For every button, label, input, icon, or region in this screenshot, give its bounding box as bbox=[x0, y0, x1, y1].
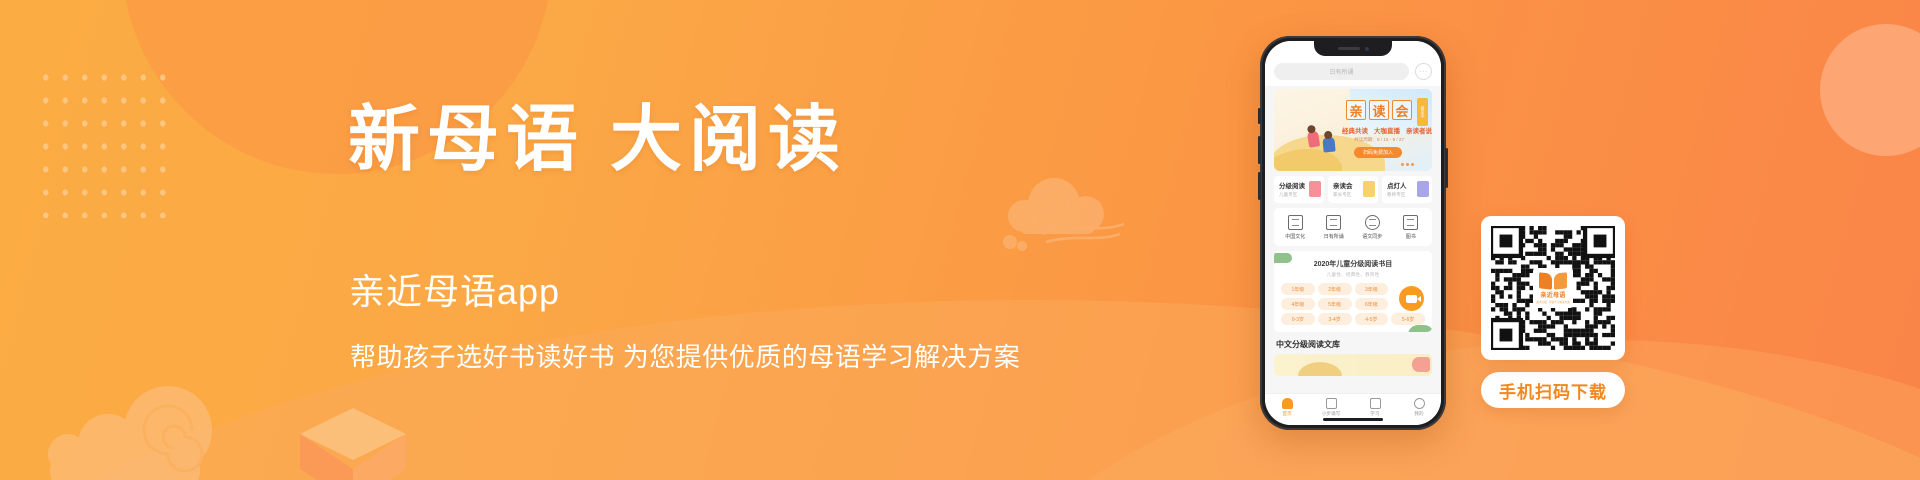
quick-icon-textbook-sync[interactable]: 语文同步 bbox=[1353, 215, 1392, 240]
tab-label: 小步诵写 bbox=[1309, 411, 1353, 417]
book-logo-icon bbox=[1539, 273, 1567, 289]
qr-logo-name: 亲近母语 bbox=[1540, 290, 1565, 299]
decor-cloud-bottom-left bbox=[0, 378, 220, 480]
grade-chip[interactable]: 6年级 bbox=[1355, 298, 1389, 310]
hero-title-char-2: 读 bbox=[1369, 100, 1389, 120]
note-icon bbox=[1363, 181, 1375, 197]
front-camera-icon bbox=[1365, 47, 1369, 51]
book-page-right bbox=[1554, 272, 1567, 290]
quick-icon-label: 语文同步 bbox=[1353, 233, 1392, 240]
entry-card-lamplighter[interactable]: 点灯人 教师专区 bbox=[1382, 176, 1432, 203]
phone-silent-button bbox=[1258, 108, 1261, 124]
book-icon bbox=[1326, 215, 1341, 230]
grade-chip[interactable]: 4-5岁 bbox=[1355, 313, 1389, 325]
home-icon bbox=[1282, 398, 1293, 409]
phone-power-button bbox=[1445, 148, 1448, 188]
carousel-dot[interactable] bbox=[1411, 163, 1414, 166]
qr-logo-slogan: 童书分级 · 母语学习解决方案 bbox=[1536, 300, 1569, 304]
hero-child-illustration-a bbox=[1307, 130, 1320, 148]
earpiece-speaker bbox=[1338, 47, 1360, 50]
grade-chip[interactable]: 2年级 bbox=[1318, 283, 1352, 295]
carousel-dot[interactable] bbox=[1401, 163, 1404, 166]
video-camera-icon bbox=[1406, 295, 1417, 303]
tab-profile[interactable]: 我的 bbox=[1397, 398, 1441, 417]
carousel-dot[interactable] bbox=[1406, 163, 1409, 166]
decor-cloud-right bbox=[1002, 172, 1120, 252]
hero-subtitle-item-2: 大咖直播 bbox=[1374, 125, 1400, 135]
hero-carousel-dots[interactable] bbox=[1401, 163, 1414, 166]
app-search-input[interactable]: 日有所诵 bbox=[1274, 63, 1409, 80]
quick-icon-daily-recitation[interactable]: 日有所诵 bbox=[1315, 215, 1354, 240]
promo-banner: 新母语 大阅读 亲近母语app 帮助孩子选好书读好书 为您提供优质的母语学习解决… bbox=[0, 0, 1920, 480]
hero-date-text: 共读周期：9 / 16 - 9 / 27 bbox=[1354, 137, 1404, 143]
banner-headline: 新母语 大阅读 bbox=[348, 104, 847, 176]
person-icon bbox=[1417, 181, 1429, 197]
hero-title: 亲 读 会 bbox=[1346, 100, 1412, 120]
grade-chip[interactable]: 3-4岁 bbox=[1318, 313, 1352, 325]
sync-icon bbox=[1365, 215, 1380, 230]
more-options-icon[interactable]: ··· bbox=[1415, 63, 1432, 80]
tab-home[interactable]: 首页 bbox=[1265, 398, 1309, 417]
leaf-decor-bottom-right bbox=[1408, 325, 1432, 332]
phone-screen: 日有所诵 ··· 亲 读 会 报名中 经典共读 大咖直播 亲读者说 bbox=[1265, 41, 1441, 425]
banner-subhead: 亲近母语app bbox=[349, 274, 560, 310]
hero-subtitle-item-1: 经典共读 bbox=[1342, 125, 1368, 135]
grade-chip[interactable]: 0-3岁 bbox=[1281, 313, 1315, 325]
grade-chip[interactable]: 5年级 bbox=[1318, 298, 1352, 310]
qr-card[interactable]: 亲近母语 童书分级 · 母语学习解决方案 bbox=[1481, 216, 1625, 360]
book-page-left bbox=[1539, 272, 1552, 290]
hero-subtitle-item-3: 亲读者说 bbox=[1406, 125, 1432, 135]
phone-mockup: 日有所诵 ··· 亲 读 会 报名中 经典共读 大咖直播 亲读者说 bbox=[1260, 36, 1446, 430]
hero-flag-badge: 报名中 bbox=[1417, 98, 1428, 126]
library-icon bbox=[1403, 215, 1418, 230]
decor-dot-grid bbox=[36, 66, 174, 218]
hero-child-illustration-b bbox=[1322, 137, 1335, 153]
library-section-title: 中文分级阅读文库 bbox=[1276, 339, 1441, 350]
tab-recite-write[interactable]: 小步诵写 bbox=[1309, 398, 1353, 417]
clipboard-icon bbox=[1370, 398, 1381, 409]
quick-icon-label: 中国文化 bbox=[1276, 233, 1315, 240]
scan-download-button[interactable]: 手机扫码下载 bbox=[1481, 372, 1625, 408]
hero-cta-button[interactable]: 扫码免费加入 bbox=[1354, 147, 1402, 158]
quick-icon-chinese-culture[interactable]: 中国文化 bbox=[1276, 215, 1315, 240]
app-entry-row: 分级阅读 儿童专区 亲读会 家长专区 点灯人 教师专区 bbox=[1274, 176, 1432, 203]
grade-chip[interactable]: 3年级 bbox=[1355, 283, 1389, 295]
qr-download-block: 亲近母语 童书分级 · 母语学习解决方案 手机扫码下载 bbox=[1481, 216, 1625, 408]
notebook-icon bbox=[1326, 398, 1337, 409]
culture-icon bbox=[1288, 215, 1303, 230]
video-play-button[interactable] bbox=[1399, 286, 1424, 311]
entry-card-graded-reading[interactable]: 分级阅读 儿童专区 bbox=[1274, 176, 1324, 203]
library-card[interactable] bbox=[1274, 354, 1432, 376]
banner-tagline: 帮助孩子选好书读好书 为您提供优质的母语学习解决方案 bbox=[350, 344, 1020, 370]
grade-card-subtitle: 儿童性、经典性、教育性 bbox=[1281, 271, 1425, 278]
grade-chip[interactable]: 5-6岁 bbox=[1391, 313, 1425, 325]
tab-label: 学习 bbox=[1353, 411, 1397, 417]
phone-volume-up-button bbox=[1258, 136, 1261, 164]
banner-copy: 新母语 大阅读 亲近母语app 帮助孩子选好书读好书 为您提供优质的母语学习解决… bbox=[348, 0, 1008, 480]
app-hero-banner[interactable]: 亲 读 会 报名中 经典共读 大咖直播 亲读者说 共读周期：9 / 16 - 9… bbox=[1274, 89, 1432, 171]
hero-title-char-3: 会 bbox=[1392, 100, 1412, 120]
entry-card-reading-club[interactable]: 亲读会 家长专区 bbox=[1328, 176, 1378, 203]
hero-subtitle: 经典共读 大咖直播 亲读者说 bbox=[1342, 125, 1432, 135]
tab-label: 我的 bbox=[1397, 411, 1441, 417]
bookmark-icon bbox=[1309, 181, 1321, 197]
quick-icon-label: 日有所诵 bbox=[1315, 233, 1354, 240]
phone-notch bbox=[1314, 41, 1392, 56]
phone-volume-down-button bbox=[1258, 172, 1261, 200]
hero-title-char-1: 亲 bbox=[1346, 100, 1366, 120]
quick-icon-books[interactable]: 图书 bbox=[1392, 215, 1431, 240]
user-icon bbox=[1414, 398, 1425, 409]
home-indicator bbox=[1323, 418, 1383, 421]
app-quick-icon-row: 中国文化 日有所诵 语文同步 图书 bbox=[1274, 208, 1432, 246]
grade-chip[interactable]: 1年级 bbox=[1281, 283, 1315, 295]
decor-circle-top-right bbox=[1820, 24, 1920, 156]
quick-icon-label: 图书 bbox=[1392, 233, 1431, 240]
grade-booklist-card[interactable]: 2020年儿童分级阅读书目 儿童性、经典性、教育性 1年级 2年级 3年级 4年… bbox=[1274, 251, 1432, 332]
leaf-decor-top-left bbox=[1274, 253, 1292, 263]
qr-center-logo: 亲近母语 童书分级 · 母语学习解决方案 bbox=[1533, 268, 1573, 308]
tab-study[interactable]: 学习 bbox=[1353, 398, 1397, 417]
grade-card-title: 2020年儿童分级阅读书目 bbox=[1281, 259, 1425, 269]
grade-chip[interactable]: 4年级 bbox=[1281, 298, 1315, 310]
tab-label: 首页 bbox=[1265, 411, 1309, 417]
